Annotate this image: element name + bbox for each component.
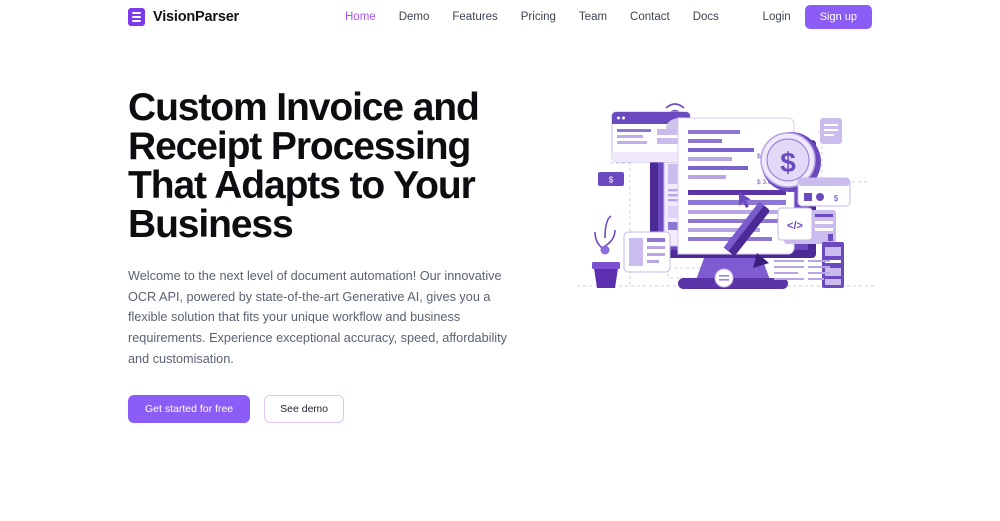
hero-subtitle: Welcome to the next level of document au… bbox=[128, 266, 528, 370]
hero-copy: Custom Invoice and Receipt Processing Th… bbox=[128, 88, 548, 423]
svg-text:</>: </> bbox=[787, 220, 803, 232]
nav-link-demo[interactable]: Demo bbox=[399, 11, 430, 23]
see-demo-button[interactable]: See demo bbox=[264, 395, 344, 423]
hero-illustration-wrap: $ $ 2.10 $ 3.00 bbox=[572, 88, 880, 295]
nav-link-contact[interactable]: Contact bbox=[630, 11, 670, 23]
brand-logo[interactable]: VisionParser bbox=[128, 8, 239, 26]
nav-link-pricing[interactable]: Pricing bbox=[521, 11, 556, 23]
note-card bbox=[820, 118, 842, 144]
data-text-block bbox=[774, 260, 830, 280]
hero-cta-group: Get started for free See demo bbox=[128, 395, 548, 423]
login-link[interactable]: Login bbox=[763, 11, 791, 23]
nav-links: Home Demo Features Pricing Team Contact … bbox=[345, 0, 719, 34]
navbar: VisionParser Home Demo Features Pricing … bbox=[0, 0, 1000, 34]
nav-actions: Login Sign up bbox=[763, 0, 872, 34]
nav-link-team[interactable]: Team bbox=[579, 11, 607, 23]
nav-link-features[interactable]: Features bbox=[452, 11, 497, 23]
plant-icon bbox=[592, 216, 620, 288]
brand-name: VisionParser bbox=[153, 9, 239, 25]
extraction-section: Simple Receipt & Invoice Data Extraction… bbox=[0, 423, 1000, 521]
code-card: </> bbox=[778, 208, 836, 244]
document-lines-icon bbox=[128, 8, 145, 26]
receipt-strip bbox=[822, 242, 844, 288]
invoice-processing-illustration: $ $ 2.10 $ 3.00 bbox=[572, 90, 880, 295]
nav-link-docs[interactable]: Docs bbox=[693, 11, 719, 23]
list-card bbox=[624, 232, 670, 272]
get-started-button[interactable]: Get started for free bbox=[128, 395, 250, 423]
svg-text:$: $ bbox=[780, 147, 796, 178]
hero-section: Custom Invoice and Receipt Processing Th… bbox=[0, 34, 1000, 423]
nav-link-home[interactable]: Home bbox=[345, 11, 376, 23]
svg-text:$: $ bbox=[834, 194, 839, 203]
signup-button[interactable]: Sign up bbox=[805, 5, 872, 29]
page-title: Custom Invoice and Receipt Processing Th… bbox=[128, 88, 488, 244]
toolbar-card: $ bbox=[798, 178, 850, 206]
circle-badge bbox=[715, 269, 733, 287]
svg-text:$: $ bbox=[609, 176, 614, 185]
price-tag: $ bbox=[598, 172, 624, 186]
